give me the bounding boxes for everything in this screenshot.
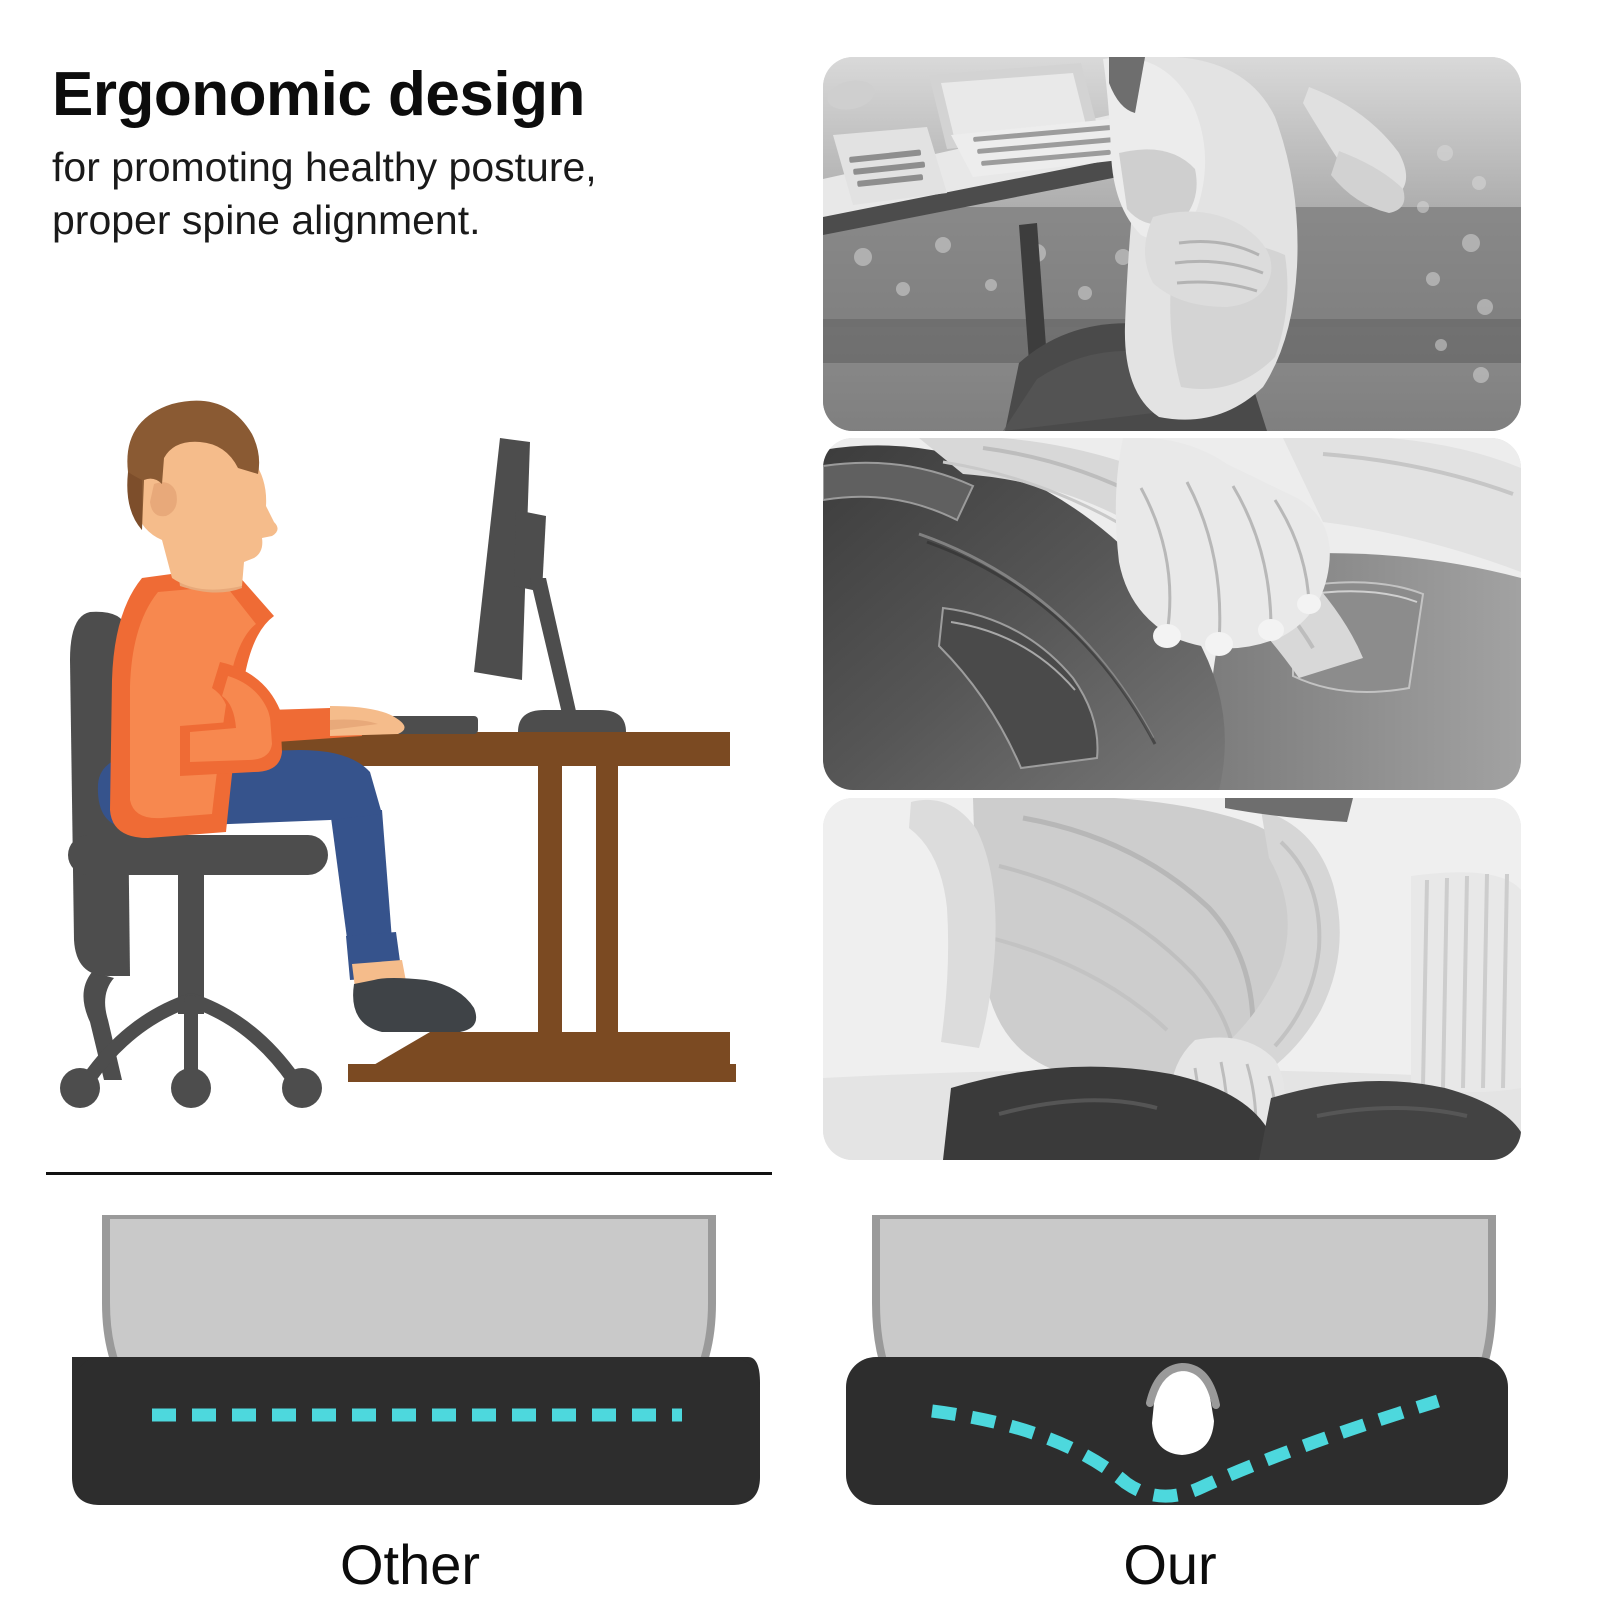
photo-hip-buttock-pain-closeup bbox=[823, 438, 1521, 790]
section-divider bbox=[46, 1172, 772, 1175]
other-cushion-diagram bbox=[60, 1215, 760, 1515]
comparison-our: Our bbox=[820, 1215, 1520, 1593]
photo-man-back-pain-on-sofa bbox=[823, 798, 1521, 1160]
comparison-other: Other bbox=[60, 1215, 760, 1593]
photo-lower-back-pain-at-desk bbox=[823, 57, 1521, 431]
headline-block: Ergonomic design for promoting healthy p… bbox=[52, 62, 772, 248]
our-label: Our bbox=[820, 1537, 1520, 1593]
ergonomic-posture-illustration bbox=[30, 380, 790, 1140]
page-title: Ergonomic design bbox=[52, 62, 772, 127]
page-subtitle: for promoting healthy posture, proper sp… bbox=[52, 141, 772, 248]
other-label: Other bbox=[60, 1537, 760, 1593]
our-cushion-diagram bbox=[820, 1215, 1520, 1515]
